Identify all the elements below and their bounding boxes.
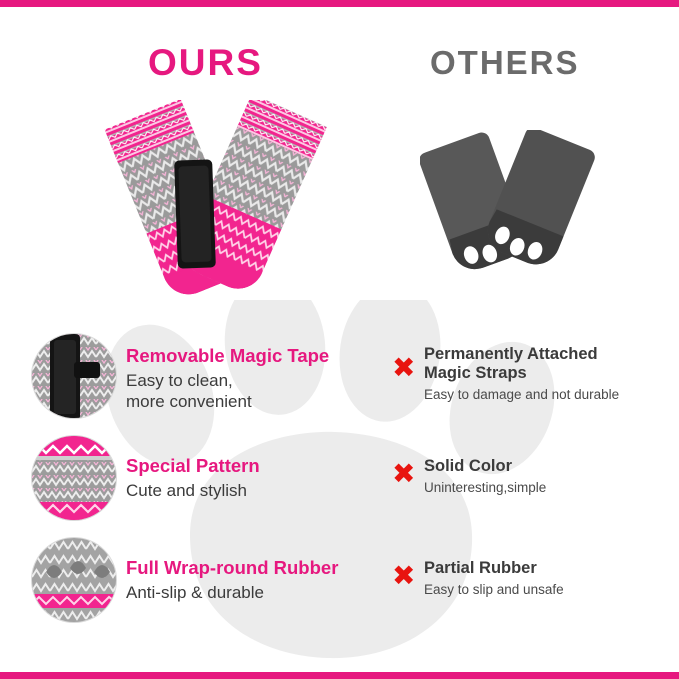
others-feature-text: Partial Rubber Easy to slip and unsafe [424,559,664,598]
ours-feature-text: Full Wrap-round Rubber Anti-slip & durab… [126,557,416,603]
feature-rows: Removable Magic Tape Easy to clean, more… [0,325,679,631]
magic-tape-strap [174,159,216,268]
ours-feature-subtitle: Cute and stylish [126,480,416,501]
hero-image-others [420,130,600,285]
feature-row: Full Wrap-round Rubber Anti-slip & durab… [0,529,679,631]
ours-feature-subtitle: Easy to clean, more convenient [126,370,416,412]
ours-feature-title: Special Pattern [126,455,416,477]
ours-feature-text: Removable Magic Tape Easy to clean, more… [126,345,416,412]
ours-feature-title: Removable Magic Tape [126,345,416,367]
bottom-accent-bar [0,672,679,679]
others-feature-subtitle: Easy to slip and unsafe [424,581,664,598]
others-feature-subtitle: Uninteresting,simple [424,479,664,496]
thumb-special-pattern [31,435,117,521]
others-feature-subtitle: Easy to damage and not durable [424,386,664,403]
top-accent-bar [0,0,679,7]
page-title-ours: OURS [148,42,263,84]
page-title-others: OTHERS [430,44,580,82]
others-feature-text: Solid Color Uninteresting,simple [424,457,664,496]
others-feature-title: Partial Rubber [424,559,664,578]
others-feature-title-line2: Magic Straps [424,364,527,382]
thumb-magic-tape [31,333,117,419]
others-feature-title-line1: Permanently Attached [424,345,598,363]
hero-image-ours [98,100,328,315]
others-feature-title: Solid Color [424,457,664,476]
others-feature-title: Permanently Attached Magic Straps [424,345,664,383]
ours-feature-subtitle: Anti-slip & durable [126,582,416,603]
red-x-icon: ✖ [392,461,418,487]
thumb-full-wrap-rubber [31,537,117,623]
comparison-infographic: OURS OTHERS [0,0,679,679]
ours-feature-text: Special Pattern Cute and stylish [126,455,416,501]
red-x-icon: ✖ [392,355,418,381]
ours-feature-subtitle-line2: more convenient [126,392,252,411]
red-x-icon: ✖ [392,563,418,589]
ours-feature-subtitle-line1: Easy to clean, [126,371,233,390]
feature-row: Removable Magic Tape Easy to clean, more… [0,325,679,427]
feature-row: Special Pattern Cute and stylish ✖ Solid… [0,427,679,529]
others-feature-text: Permanently Attached Magic Straps Easy t… [424,345,664,403]
ours-feature-title: Full Wrap-round Rubber [126,557,416,579]
